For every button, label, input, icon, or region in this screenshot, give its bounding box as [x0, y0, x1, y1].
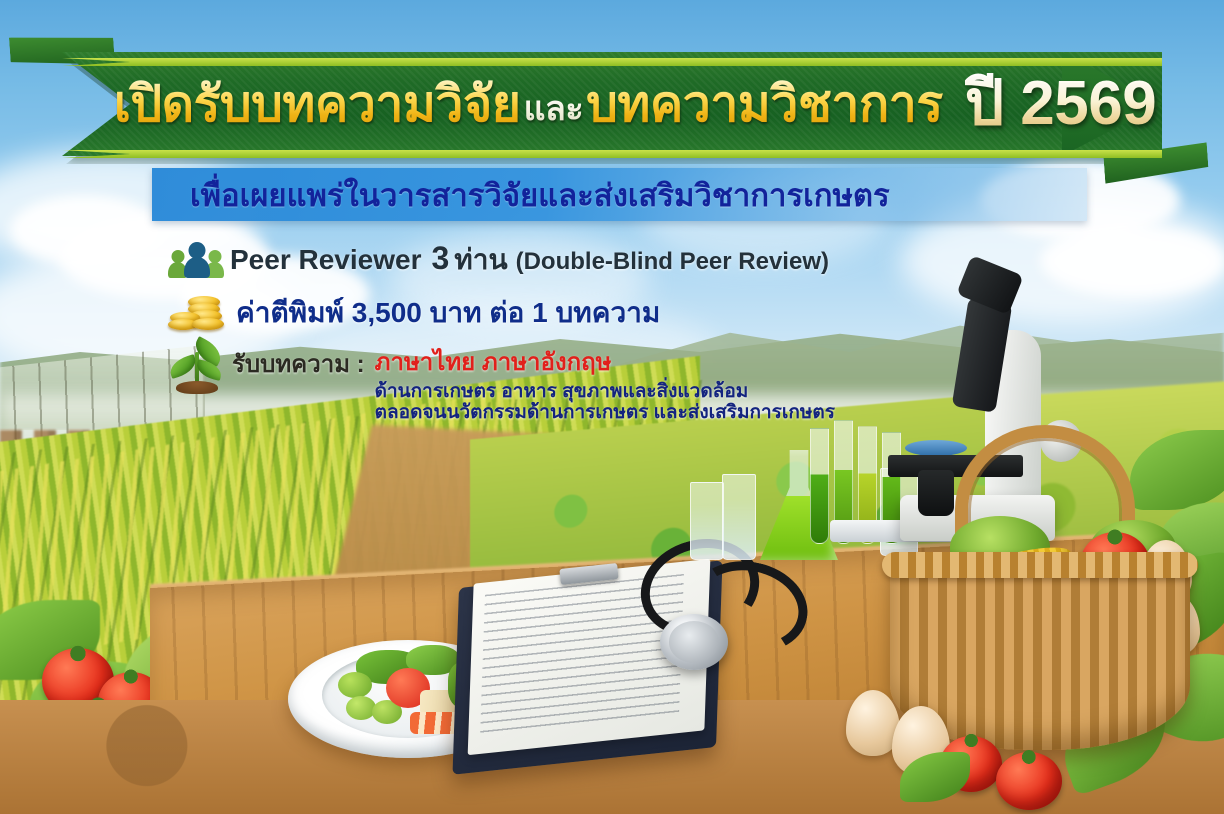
peer-reviewer-row: Peer Reviewer3ท่าน(Double-Blind Peer Rev…: [168, 236, 1048, 284]
scope-line-2: ตลอดจนนวัตกรรมด้านการเกษตร และส่งเสริมกา…: [375, 402, 835, 423]
accepted-languages: ภาษาไทย ภาษาอังกฤษ: [375, 342, 835, 381]
publication-fee-text: ค่าตีพิมพ์ 3,500 บาท ต่อ 1 บทความ: [236, 291, 660, 335]
microscope-condenser: [905, 440, 967, 456]
publication-fee-row: ค่าตีพิมพ์ 3,500 บาท ต่อ 1 บทความ: [168, 288, 1048, 338]
test-tube: [810, 428, 829, 544]
banner-ribbon: เปิดรับบทความวิจัย และ บทความวิชาการ ปี …: [62, 52, 1162, 164]
poster: เปิดรับบทความวิจัย และ บทความวิชาการ ปี …: [0, 0, 1224, 814]
tomato: [996, 752, 1062, 810]
banner-year: ปี 2569: [965, 73, 1157, 135]
submission-details: ภาษาไทย ภาษาอังกฤษ ด้านการเกษตร อาหาร สุ…: [375, 342, 835, 424]
basket-rim: [882, 552, 1198, 578]
coins-icon: [168, 294, 228, 332]
seedling-icon: [168, 342, 226, 394]
peer-reviewer-unit: ท่าน: [454, 244, 507, 275]
beaker: [690, 482, 724, 560]
info-block: Peer Reviewer3ท่าน(Double-Blind Peer Rev…: [168, 236, 1048, 424]
submission-label: รับบทความ :: [232, 344, 365, 383]
subtitle-text: เพื่อเผยแพร่ในวารสารวิจัยและส่งเสริมวิชา…: [152, 168, 1087, 221]
peer-review-type: (Double-Blind Peer Review): [516, 248, 829, 275]
scope-line-1: ด้านการเกษตร อาหาร สุขภาพและสิ่งแวดล้อม: [375, 381, 835, 402]
submission-row: รับบทความ : ภาษาไทย ภาษาอังกฤษ ด้านการเก…: [168, 342, 1048, 424]
beaker: [722, 474, 756, 560]
banner-title-part2: บทความวิชาการ: [586, 79, 943, 129]
peer-reviewer-label: Peer Reviewer: [230, 244, 421, 275]
peer-reviewer-count: 3: [431, 240, 449, 276]
people-icon: [168, 242, 224, 278]
stethoscope-chestpiece: [660, 614, 728, 670]
banner-title-conjunction: และ: [524, 92, 584, 126]
banner-title-part1: เปิดรับบทความวิจัย: [114, 79, 521, 129]
salad-vegetable: [338, 672, 372, 698]
microscope-objective: [918, 470, 954, 516]
peer-reviewer-text: Peer Reviewer3ท่าน(Double-Blind Peer Rev…: [230, 238, 829, 282]
banner-title: เปิดรับบทความวิจัย และ บทความวิชาการ ปี …: [62, 52, 1162, 156]
